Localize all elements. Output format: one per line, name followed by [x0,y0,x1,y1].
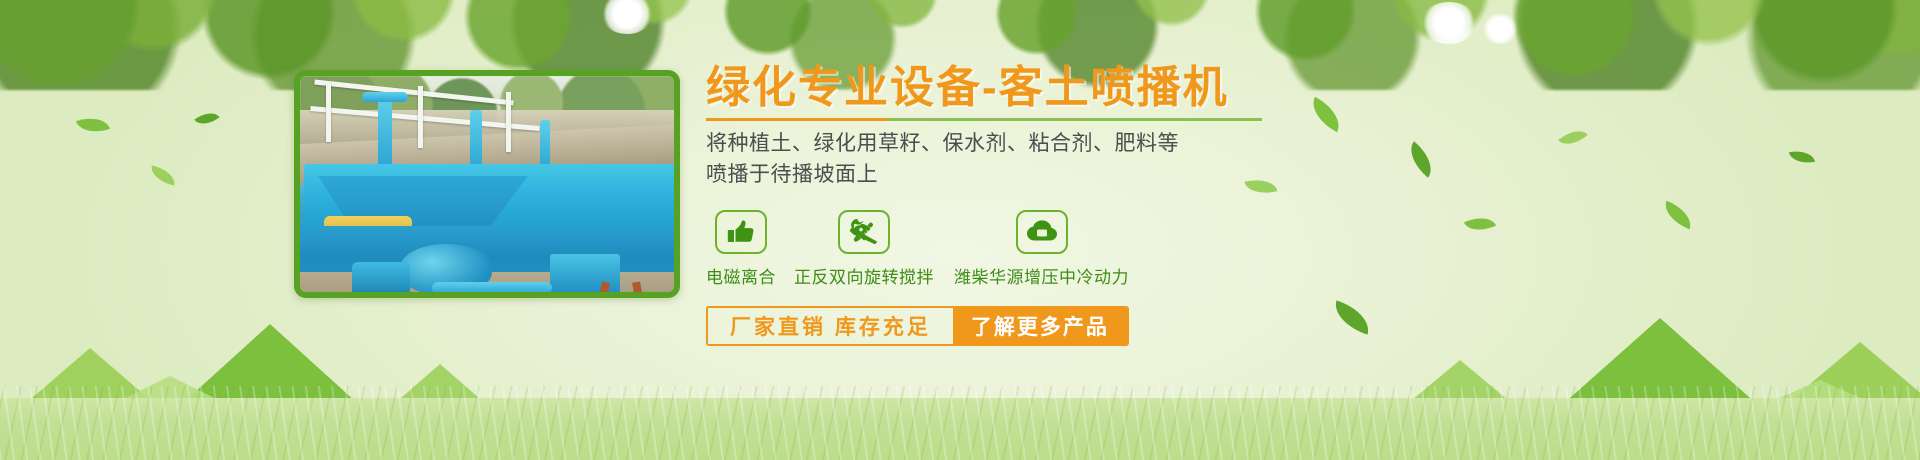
feature-label: 潍柴华源增压中冷动力 [954,263,1129,288]
subtitle-line-2: 喷播于待播坡面上 [706,160,1406,190]
photo-pipe [470,110,482,170]
photo-pipe [540,120,550,170]
thumbs-up-icon [715,210,767,254]
leaf-icon [149,165,178,185]
leaf-icon [1660,201,1696,230]
mountain-shape [1340,360,1580,460]
photo-machine-motor [352,262,410,298]
mountain-shape [1640,380,1920,460]
promo-banner: 绿化专业设备-客土喷播机 将种植土、绿化用草籽、保水剂、粘合剂、肥料等 喷播于待… [0,0,1920,460]
mountain-shape [120,324,420,460]
photo-railing-post [506,92,511,152]
feature-item-bidirectional-mixing: 正反双向旋转搅拌 [794,210,934,288]
grass-texture [0,386,1920,460]
title-underline [706,118,1262,121]
banner-content: 绿化专业设备-客土喷播机 将种植土、绿化用草籽、保水剂、粘合剂、肥料等 喷播于待… [706,64,1406,346]
leaf-icon [194,107,219,130]
learn-more-button[interactable]: 了解更多产品 [953,308,1127,344]
photo-pipe [362,92,408,102]
mountain-shape [0,376,340,460]
product-photo [300,76,674,292]
leaf-icon [1464,211,1496,237]
feature-item-electromagnetic-clutch: 电磁离合 [706,210,776,288]
grass-strip [0,398,1920,460]
leaf-icon [1789,148,1815,166]
blossom-icon [1480,14,1520,44]
cta-slogan: 厂家直销 库存充足 [708,308,953,344]
feature-item-weichai-power: 潍柴华源增压中冷动力 [954,210,1129,288]
photo-railing-post [326,82,331,142]
product-photo-frame[interactable] [294,70,680,298]
tools-icon [838,210,890,254]
leaf-icon [76,112,110,138]
photo-railing-post [418,86,423,148]
blossom-icon [600,0,654,34]
photo-pipe [378,96,392,168]
subtitle: 将种植土、绿化用草籽、保水剂、粘合剂、肥料等 喷播于待播坡面上 [706,129,1406,190]
photo-discharge-pipe [432,282,552,294]
mountain-shape [1720,342,1920,460]
leaf-icon [1558,123,1588,151]
subtitle-line-1: 将种植土、绿化用草籽、保水剂、粘合剂、肥料等 [706,129,1406,159]
feature-list: 电磁离合 [706,210,1406,288]
mountain-shape [0,348,220,460]
cta-bar: 厂家直销 库存充足 了解更多产品 [706,306,1129,346]
engine-power-icon [1016,210,1068,254]
feature-label: 正反双向旋转搅拌 [794,263,934,288]
photo-machine-control-box [550,254,620,294]
feature-label: 电磁离合 [706,263,776,288]
page-title: 绿化专业设备-客土喷播机 [706,64,1406,112]
leaf-icon [1402,141,1440,177]
mountain-shape [1500,318,1820,460]
mountain-shape [330,364,550,460]
blossom-icon [1420,2,1478,44]
